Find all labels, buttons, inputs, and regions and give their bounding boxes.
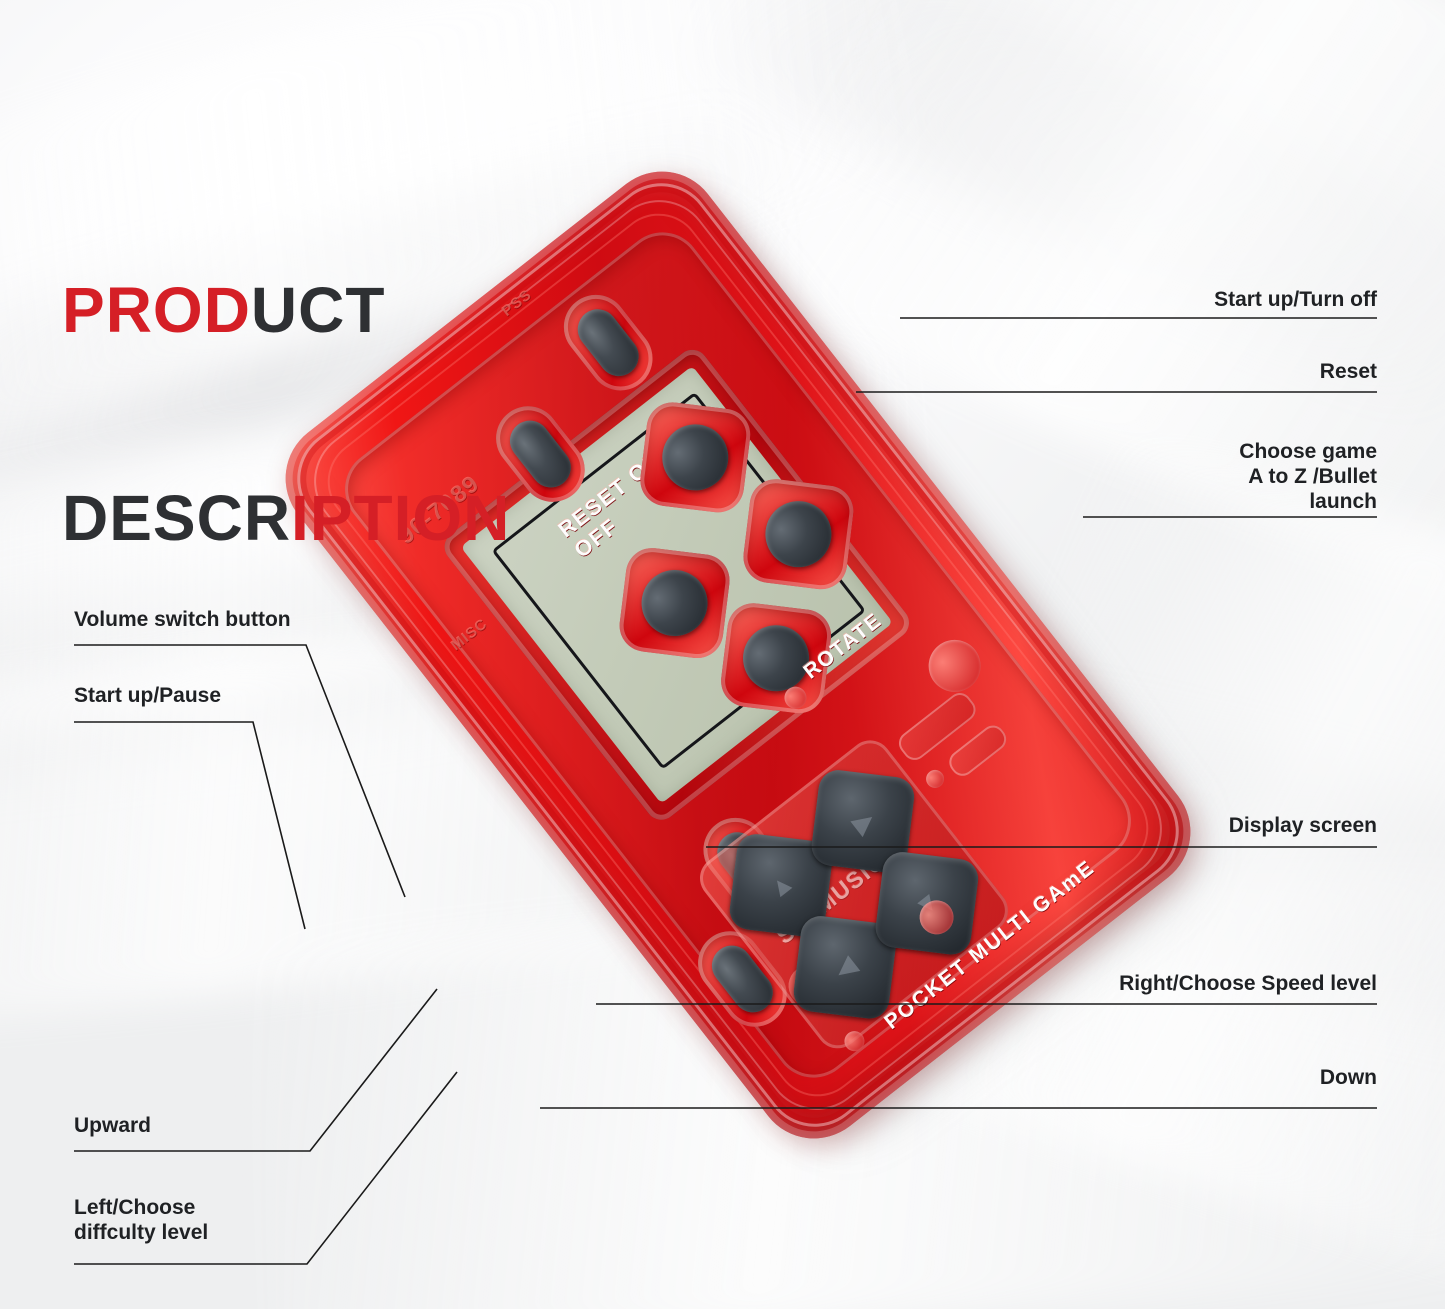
callout-left-difficulty: Left/Choose diffculty level bbox=[74, 1196, 208, 1246]
title-part-prod: PROD bbox=[62, 274, 251, 346]
title-part-uct: UCT bbox=[251, 274, 386, 346]
title-part-iption: IPTION bbox=[291, 482, 510, 554]
dpad-up-icon: ▲ bbox=[763, 867, 799, 903]
rotate-button[interactable] bbox=[718, 600, 834, 716]
rotate-button-cap bbox=[730, 612, 823, 705]
infographic-canvas: RESET ON/ OFF ROTATE S/P M bbox=[0, 0, 1445, 1309]
choose-game-button-cap bbox=[752, 488, 845, 581]
title-line-1: PRODUCT bbox=[62, 276, 510, 345]
callout-volume: Volume switch button bbox=[74, 608, 291, 633]
action-button-a-cap bbox=[628, 557, 721, 650]
action-button-a[interactable] bbox=[617, 545, 733, 661]
callout-start-pause: Start up/Pause bbox=[74, 684, 221, 709]
title-part-descr: DESCR bbox=[62, 482, 291, 554]
dpad-left-icon: ◀ bbox=[829, 951, 861, 984]
dpad-right-icon: ▶ bbox=[847, 805, 879, 838]
callout-choose-game: Choose game A to Z /Bullet launch bbox=[1239, 440, 1377, 514]
action-button-b[interactable] bbox=[637, 399, 753, 515]
callout-upward: Upward bbox=[74, 1114, 151, 1139]
callout-right-speed: Right/Choose Speed level bbox=[1119, 972, 1377, 997]
title-line-2: DESCRIPTION bbox=[62, 484, 510, 553]
choose-game-button[interactable] bbox=[740, 476, 856, 592]
callout-down: Down bbox=[1320, 1066, 1377, 1091]
callout-reset: Reset bbox=[1320, 360, 1377, 385]
callout-display-screen: Display screen bbox=[1229, 814, 1377, 839]
action-button-b-cap bbox=[649, 411, 742, 504]
callout-power: Start up/Turn off bbox=[1214, 288, 1377, 313]
